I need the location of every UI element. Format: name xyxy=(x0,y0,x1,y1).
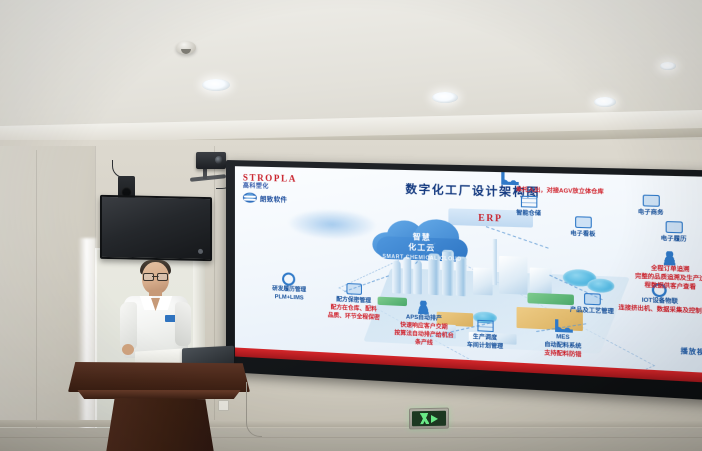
node-e-resume[interactable]: 电子履历 xyxy=(642,220,702,245)
cloud-label: 智慧 化工云 SMART CHEMICAL CLOUD xyxy=(372,231,472,266)
downlight-2 xyxy=(432,92,458,103)
monitor-icon xyxy=(665,221,682,236)
wall-seam-1 xyxy=(36,150,37,450)
podium-body xyxy=(106,398,214,451)
arm-left xyxy=(120,302,137,350)
monitor-icon xyxy=(642,195,659,209)
partner-mark-icon xyxy=(243,192,257,202)
play-video-link[interactable]: 播放视频 xyxy=(681,346,702,357)
shelf-icon xyxy=(520,196,536,210)
arm-right xyxy=(175,302,191,346)
presentation-screen[interactable]: STROPLA 高科塑化 朗致软件 数字化工厂设计架构图 ERP xyxy=(226,160,702,402)
process-building-3 xyxy=(530,268,552,294)
power-cable xyxy=(246,382,262,437)
node-pallet-in-out[interactable]: 单托入出，对接AGV放立体仓库 xyxy=(486,172,635,198)
ceiling xyxy=(0,0,702,150)
wall-socket[interactable] xyxy=(218,400,229,411)
smokestack xyxy=(493,239,497,285)
person-icon xyxy=(416,300,432,314)
forklift-icon xyxy=(555,319,572,334)
emergency-exit-sign xyxy=(409,408,449,430)
cloud-label-line2: 化工云 xyxy=(408,242,435,252)
running-man-icon xyxy=(420,413,429,424)
display-led-indicator xyxy=(198,249,203,254)
smoke-detector-icon xyxy=(176,41,196,54)
screen-bezel: STROPLA 高科塑化 朗致软件 数字化工厂设计架构图 ERP xyxy=(226,160,702,402)
node-order-trace[interactable]: 全程订单追溯 完整的品质追溯及生产过 程数据供客户查看 xyxy=(608,249,702,294)
node-label: 电子商务 xyxy=(619,209,683,218)
arrow-right-icon xyxy=(431,414,438,422)
downlight-3 xyxy=(594,97,616,107)
slide-canvas: STROPLA 高科塑化 朗致软件 数字化工厂设计架构图 ERP xyxy=(235,166,702,384)
conference-room-scene: STROPLA 高科塑化 朗致软件 数字化工厂设计架构图 ERP xyxy=(0,0,702,451)
downlight-1 xyxy=(202,79,230,91)
process-building-2 xyxy=(499,256,527,295)
node-mes[interactable]: MES 自动配料系统 支持配料防错 xyxy=(527,318,598,361)
node-e-commerce[interactable]: 电子商务 xyxy=(619,194,683,218)
partner-cn: 朗致软件 xyxy=(260,193,287,204)
glasses-icon xyxy=(143,273,168,279)
forklift-icon xyxy=(501,172,517,186)
silo-3 xyxy=(413,260,421,294)
process-building-1 xyxy=(473,267,492,295)
monitor-icon xyxy=(346,283,362,297)
node-smart-warehouse[interactable]: 智能仓储 xyxy=(497,195,561,219)
gear-icon xyxy=(282,272,297,286)
wall-display-panel xyxy=(100,195,212,261)
cloud-graphic: 智慧 化工云 SMART CHEMICAL CLOUD xyxy=(372,217,472,266)
shelf-icon xyxy=(477,320,493,334)
exit-sign-face xyxy=(412,411,446,427)
monitor-icon xyxy=(575,216,592,230)
podium-top xyxy=(68,362,250,392)
downlight-4 xyxy=(660,62,676,70)
person-icon xyxy=(662,251,679,266)
node-production-schedule[interactable]: 生产调度 车间计划管理 xyxy=(449,318,520,352)
projector-arm xyxy=(203,168,207,179)
hand-left xyxy=(122,344,134,355)
node-e-kanban[interactable]: 电子看板 xyxy=(552,216,615,240)
partner-logo-row: 朗致软件 xyxy=(243,192,297,204)
cloud-shadow xyxy=(287,208,377,241)
monitor-icon xyxy=(583,293,600,308)
podium-lip xyxy=(74,390,244,399)
cloud-label-line1: 智慧 xyxy=(413,232,431,242)
node-label: 电子履历 xyxy=(642,235,702,245)
